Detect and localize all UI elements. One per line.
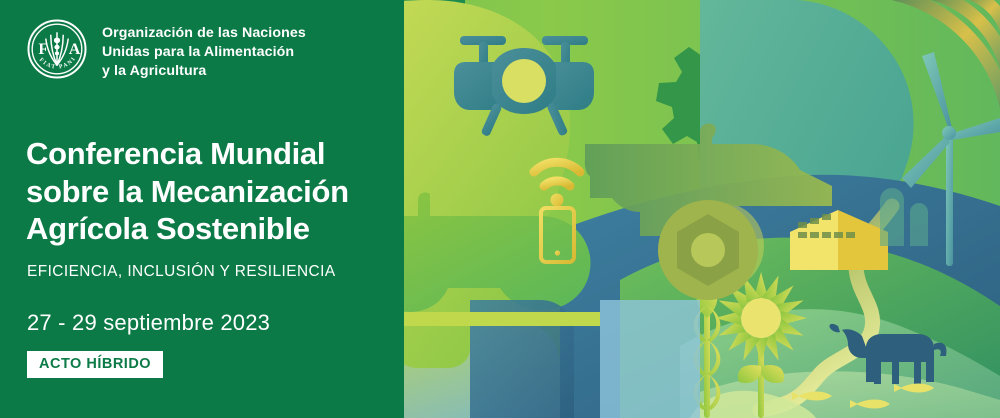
fao-header: F A FIAT PANIS Org <box>26 18 306 81</box>
organization-name: Organización de las Naciones Unidas para… <box>102 18 306 81</box>
text-content: F A FIAT PANIS Org <box>0 0 1000 418</box>
svg-text:A: A <box>69 41 81 58</box>
fao-conference-banner: F A FIAT PANIS Org <box>0 0 1000 418</box>
fao-logo: F A FIAT PANIS <box>26 18 88 80</box>
page-subtitle: EFICIENCIA, INCLUSIÓN Y RESILIENCIA <box>27 263 336 281</box>
status-badge: ACTO HÍBRIDO <box>27 351 163 378</box>
page-title: Conferencia Mundial sobre la Mecanizació… <box>26 135 349 248</box>
event-date: 27 - 29 septiembre 2023 <box>27 310 270 336</box>
